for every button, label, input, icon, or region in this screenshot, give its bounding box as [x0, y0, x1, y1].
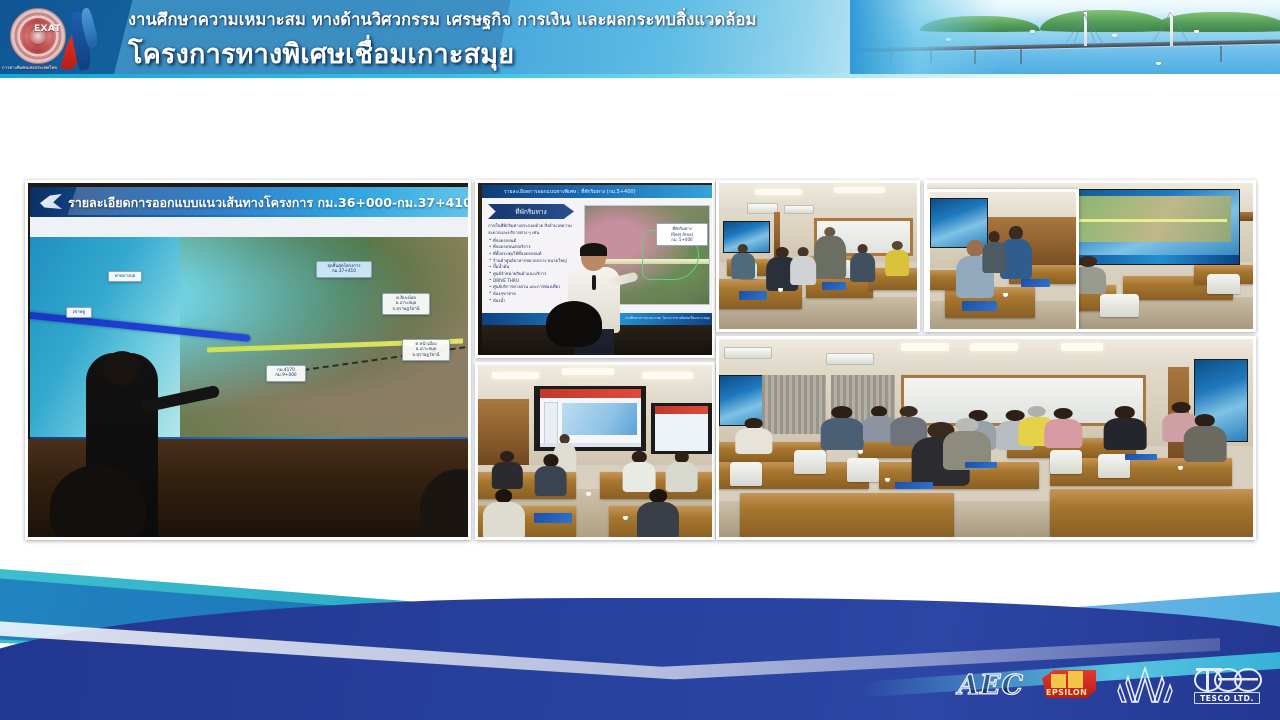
secondary-screen [651, 403, 712, 455]
collage-photo-wide-seminar-audience[interactable] [716, 336, 1256, 540]
ceiling-light [642, 372, 693, 379]
maa-triangle-icon [1116, 667, 1174, 703]
attendee-person [820, 406, 863, 450]
slide-header-band: รายละเอียดการออกแบบทางพิเศษ : ที่พักริมท… [482, 185, 712, 198]
attendee-person [735, 418, 772, 454]
person-body [483, 502, 525, 537]
maa-logo [1116, 667, 1174, 703]
epsilon-logo: EPSILON [1042, 668, 1098, 702]
standing-speaker [814, 227, 846, 280]
epsilon-step-2 [1068, 671, 1083, 688]
slide-canvas [562, 403, 637, 434]
header-banner: กระทรวงคมนาคม EXAT การทางพิเศษแห่งประเทศ… [0, 0, 1280, 78]
powerpoint-ribbon [655, 406, 708, 414]
person-body [850, 253, 876, 282]
person-head [495, 489, 513, 503]
header-accent-rule [0, 74, 1280, 78]
room-background [478, 365, 712, 537]
desk-row-front [1050, 489, 1253, 537]
inset-photo-attendee-with-mic[interactable] [927, 189, 1079, 329]
main-presentation-screen [534, 386, 646, 451]
person-body [731, 253, 755, 280]
aec-logo: AEC [958, 670, 1024, 701]
coffee-cup [1003, 293, 1008, 297]
person-body [790, 256, 816, 285]
person-body [492, 462, 522, 489]
attendee-person [731, 244, 755, 279]
map-callout-na-mueang: ต.หน้าเมือง อ.เกาะสมุย จ.สุราษฎร์ธานี [402, 339, 450, 361]
ceiling-light [970, 343, 1018, 351]
presenter-head [104, 351, 140, 385]
chair [1207, 274, 1240, 294]
person-body [534, 466, 567, 496]
epsilon-wordmark: EPSILON [1046, 688, 1087, 697]
person-head [1009, 226, 1023, 241]
map-callout-beach: หาดบางปอ [108, 271, 142, 282]
person-body [820, 418, 863, 450]
document-folder [965, 462, 997, 468]
desk-row-front [740, 493, 954, 537]
person-head [967, 240, 984, 258]
chair [847, 458, 879, 482]
person-head [543, 454, 558, 466]
document-folder [822, 282, 846, 289]
ceiling-light [901, 343, 949, 351]
header-title-line1: งานศึกษาความเหมาะสม ทางด้านวิศวกรรม เศรษ… [128, 7, 757, 33]
person-body [983, 242, 1006, 273]
exat-logo-label: EXAT [34, 24, 61, 34]
document-folder [534, 513, 571, 523]
rest-area-callout: ที่พักริมทาง (Rest Area) กม. 5+400 [656, 223, 708, 246]
chair [1100, 294, 1139, 317]
bridge-pier [1020, 46, 1022, 64]
person-body [1103, 418, 1146, 450]
attendee-person-foreground [637, 489, 679, 537]
person-head [649, 489, 667, 503]
attendee-person [983, 231, 1006, 273]
person-body [1184, 426, 1227, 462]
collage-photo-seminar-room-speaker[interactable] [716, 180, 920, 332]
attendee-person [1184, 414, 1227, 462]
slide-white-strip [30, 217, 468, 239]
map-callout-station: กม.4170 กม.9+000 [266, 365, 306, 382]
chair [730, 462, 762, 486]
air-conditioner-icon [724, 347, 772, 359]
sea-fade-overlay [850, 0, 1000, 78]
attendee-person [534, 454, 567, 495]
person-body [1045, 419, 1082, 448]
boat-shape [1194, 30, 1199, 33]
attendee-person [623, 451, 656, 492]
document-folder [739, 291, 767, 300]
agency-logo-block: กระทรวงคมนาคม EXAT การทางพิเศษแห่งประเทศ… [4, 2, 122, 76]
microphone-icon [592, 275, 596, 290]
collage-photo-rest-area-presentation[interactable]: รายละเอียดการออกแบบทางพิเศษ : ที่พักริมท… [475, 180, 715, 358]
room-background-inset [930, 192, 1076, 329]
tesco-wordmark: TESCO LTD. [1194, 692, 1260, 704]
bottom-wave-decoration: AEC EPSILON [0, 540, 1280, 720]
attendee-person-foreground [483, 489, 525, 537]
air-conditioner-icon [826, 353, 874, 365]
collage-photo-attendees-and-screen[interactable] [924, 180, 1256, 332]
person-body [885, 250, 909, 277]
slide-title: รายละเอียดการออกแบบแนวเส้นทางโครงการ กม.… [68, 193, 468, 213]
air-conditioner-icon [784, 205, 814, 214]
person-body [623, 462, 656, 493]
presenter-hair [580, 243, 607, 256]
document-folder [1021, 279, 1050, 287]
attendee-person [790, 247, 816, 285]
photo-collage: รายละเอียดการออกแบบแนวเส้นทางโครงการ กม.… [25, 180, 1256, 540]
bridge-rendering-image [850, 0, 1280, 78]
chair [1050, 450, 1082, 474]
epsilon-step-1 [1051, 674, 1066, 688]
person-body [637, 502, 679, 537]
attendee-person [885, 241, 909, 276]
ceiling-light [1061, 343, 1104, 351]
person-body [665, 462, 698, 493]
map-callout-lipa-noi: ต.ลิปะน้อย อ.เกาะสมุย จ.สุราษฎร์ธานี [382, 293, 430, 315]
attendee-person [492, 451, 522, 489]
ceiling-light [492, 372, 539, 379]
coffee-cup [885, 478, 890, 482]
coffee-cup [858, 450, 863, 454]
screen-content [655, 406, 708, 451]
attendee-person [1045, 408, 1082, 448]
page-title: โครงการทางพิเศษเชื่อมเกาะสมุย [128, 32, 514, 75]
presentation-slide: กระทรวงคมนาคม EXAT การทางพิเศษแห่งประเทศ… [0, 0, 1280, 720]
document-folder [1125, 454, 1157, 460]
slide-lead-text: ภายในที่พักริมทางประกอบด้วย สิ่งอำนวยควา… [488, 223, 580, 236]
attendee-person [665, 451, 698, 492]
ceiling-light [562, 368, 613, 375]
person-body [814, 236, 846, 279]
boat-shape [1030, 30, 1035, 33]
map-callout-end-of-project: จุดสิ้นสุดโครงการ กม.37+410 [316, 261, 372, 278]
attendee-person [1103, 406, 1146, 450]
room-background [719, 339, 1253, 537]
collage-photo-route-map-presentation[interactable]: รายละเอียดการออกแบบแนวเส้นทางโครงการ กม.… [25, 180, 471, 540]
ceiling-light [834, 187, 885, 193]
person-body [735, 428, 772, 454]
chair [794, 450, 826, 474]
room-background [719, 183, 917, 329]
attendee-person [850, 244, 876, 282]
map-callout-hill: เขาพลู [66, 307, 92, 318]
boat-shape [1156, 62, 1161, 65]
document-folder [895, 482, 932, 490]
audience-head-foreground [546, 301, 602, 347]
slide-section-title: ที่พักริมทาง [488, 204, 574, 219]
ceiling-light [755, 189, 803, 195]
ministry-of-transport-seal-icon [10, 8, 66, 64]
exat-agency-subtitle: การทางพิเศษแห่งประเทศไทย [2, 64, 74, 71]
tesco-logo: TESCO LTD. [1192, 666, 1262, 704]
collage-photo-presentation-hall[interactable] [475, 362, 715, 540]
bridge-pier [1220, 46, 1222, 62]
footer-consultant-logos: AEC EPSILON [958, 666, 1262, 704]
boat-shape [1112, 34, 1117, 37]
document-folder [962, 301, 997, 311]
powerpoint-ribbon [540, 389, 642, 398]
